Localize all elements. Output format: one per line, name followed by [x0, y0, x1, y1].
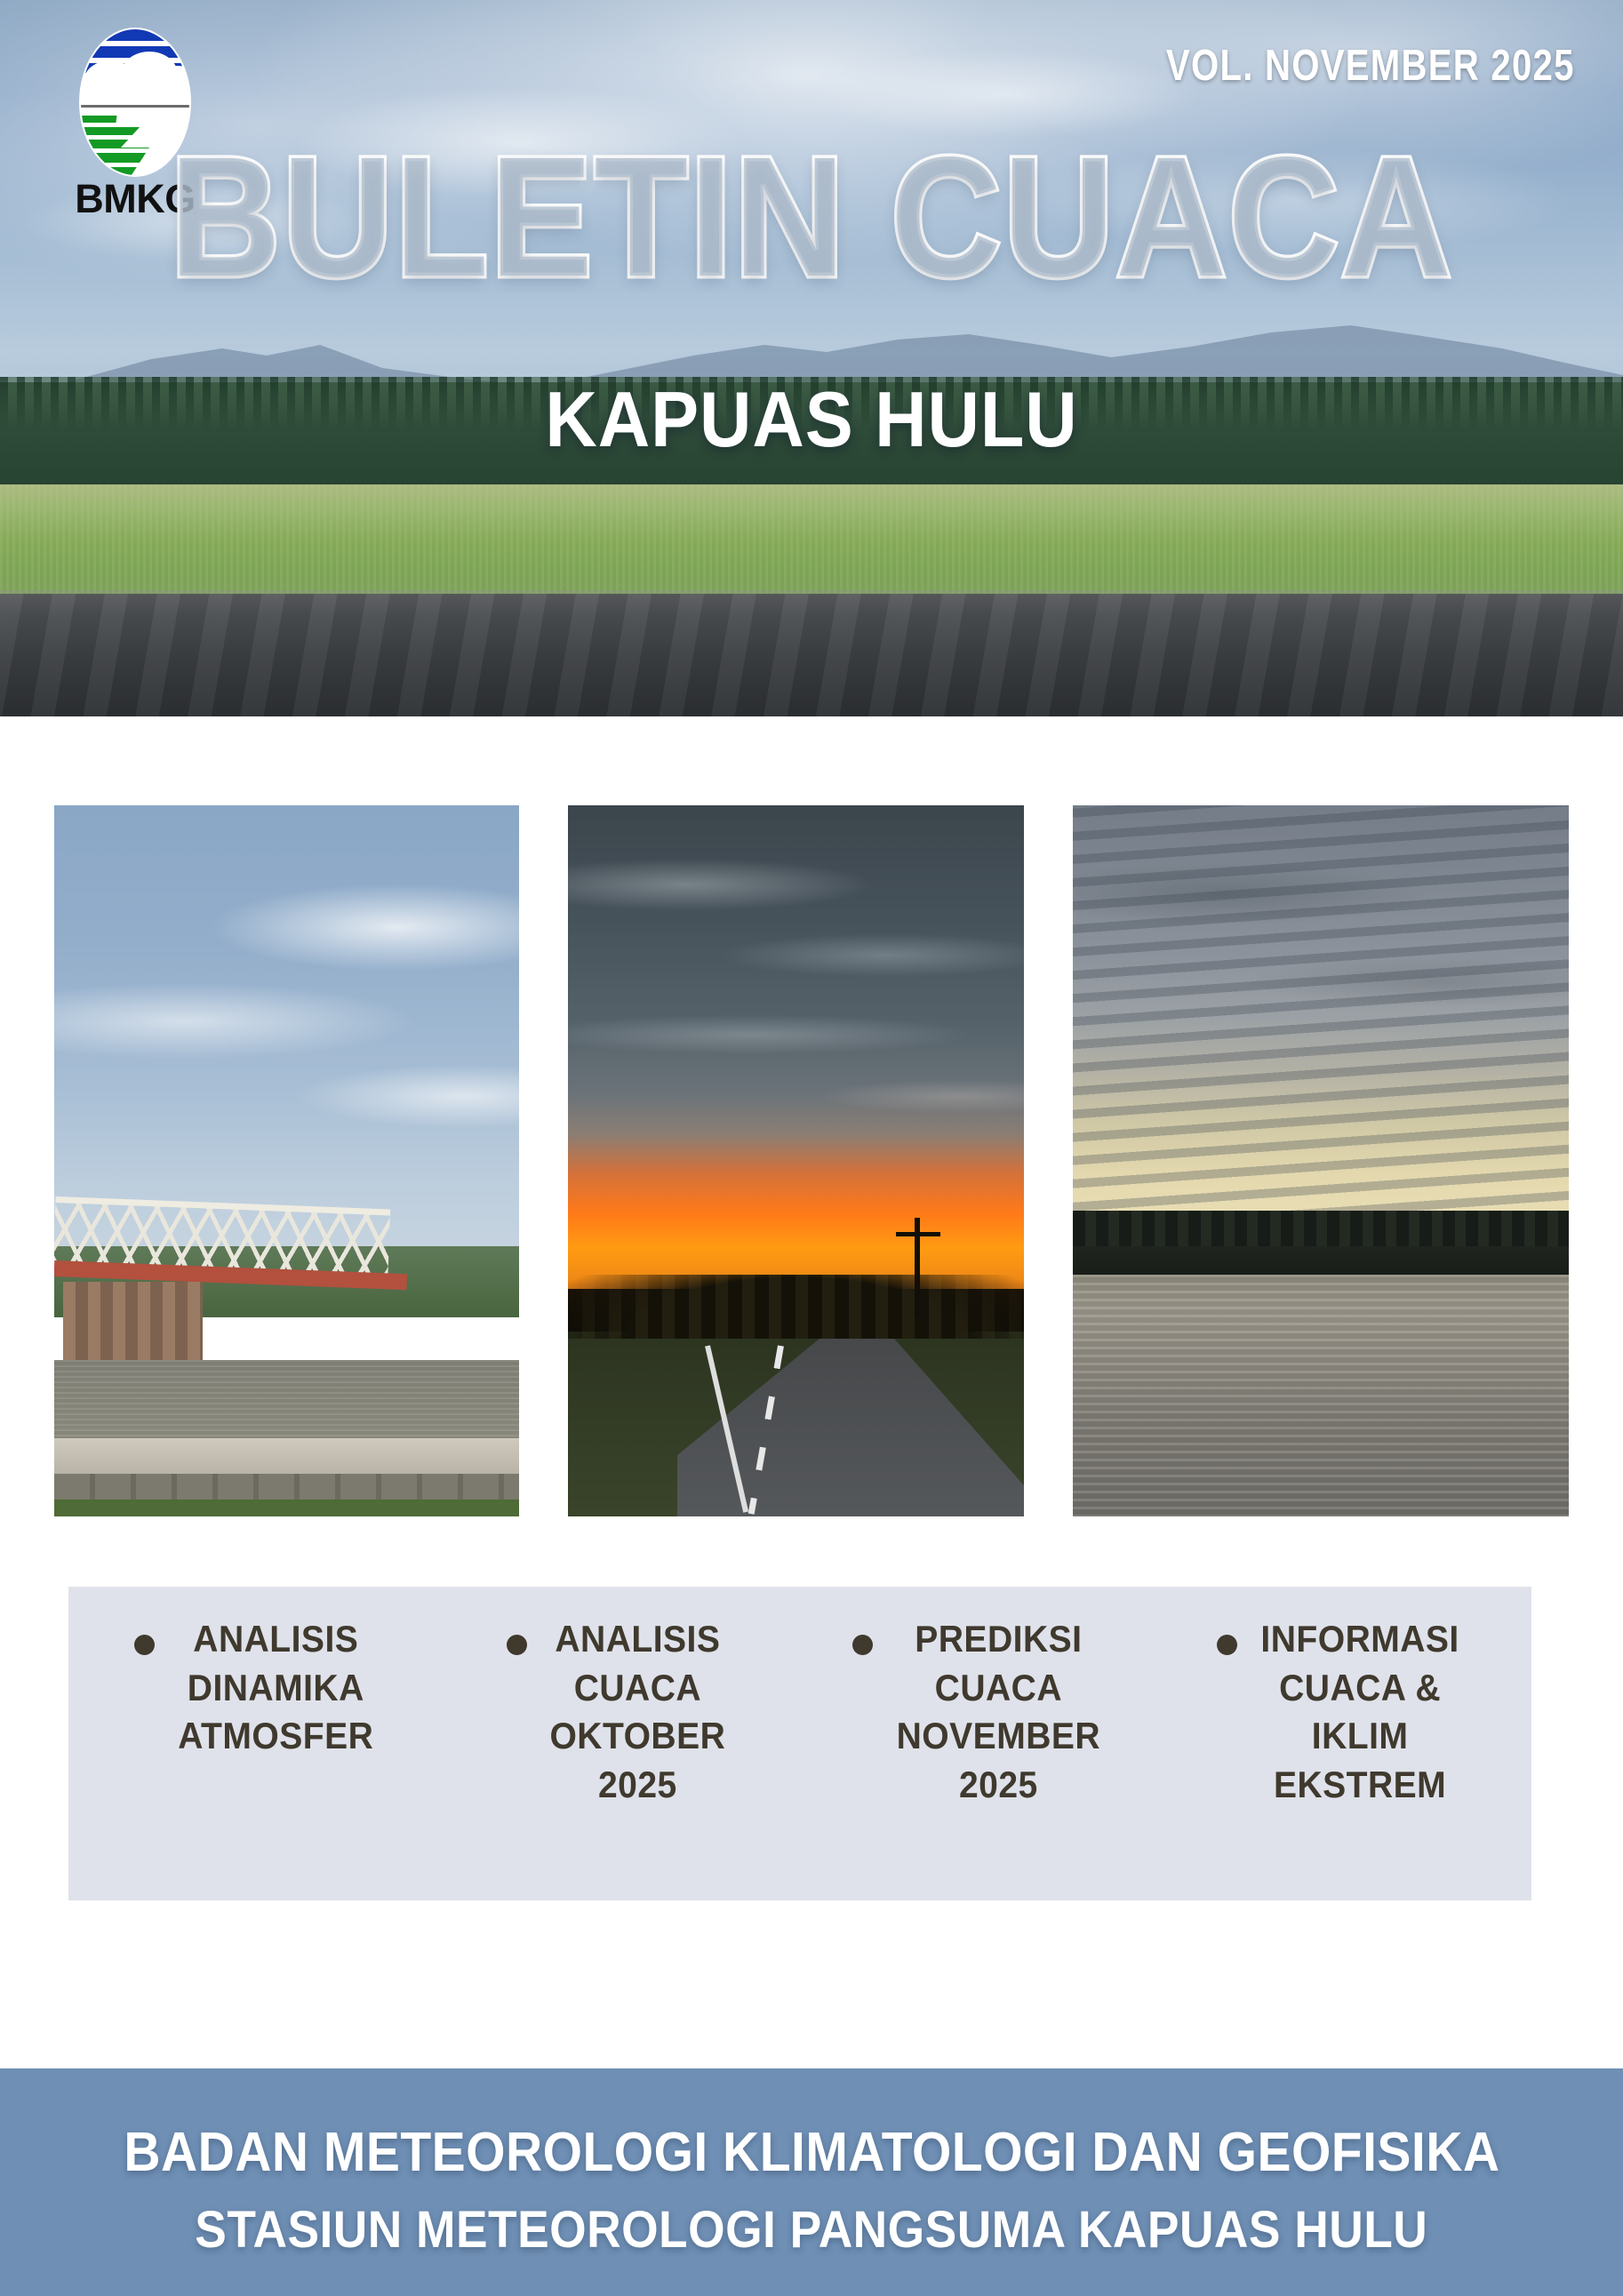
contents-item-2: ANALISIS CUACA OKTOBER 2025 [439, 1615, 801, 1809]
photo-strip [54, 805, 1569, 1516]
contents-item-label: ANALISIS DINAMIKA ATMOSFER [179, 1615, 374, 1761]
hero-banner: BMKG VOL. NOVEMBER 2025 BULETIN CUACA KA… [0, 0, 1623, 716]
contents-item-3: PREDIKSI CUACA NOVEMBER 2025 [800, 1615, 1162, 1809]
page-subtitle: KAPUAS HULU [65, 380, 1558, 459]
bullet-dot-icon [852, 1635, 873, 1655]
contents-panel: ANALISIS DINAMIKA ATMOSFER ANALISIS CUAC… [68, 1587, 1531, 1900]
bullet-dot-icon [1217, 1635, 1237, 1655]
photo2-clouds [568, 805, 1024, 1246]
contents-item-1: ANALISIS DINAMIKA ATMOSFER [77, 1615, 439, 1761]
contents-item-label: INFORMASI CUACA & IKLIM EKSTREM [1261, 1615, 1459, 1809]
contents-item-4: INFORMASI CUACA & IKLIM EKSTREM [1162, 1615, 1523, 1809]
photo1-grass [54, 1500, 519, 1516]
photo-river-dusk [1073, 805, 1569, 1516]
contents-item-label: ANALISIS CUACA OKTOBER 2025 [549, 1615, 725, 1809]
contents-item-label: PREDIKSI CUACA NOVEMBER 2025 [897, 1615, 1100, 1809]
hero-grass-field [0, 484, 1623, 604]
photo3-clouds [1073, 805, 1569, 1246]
footer-agency-name: BADAN METEOROLOGI KLIMATOLOGI DAN GEOFIS… [124, 2121, 1499, 2184]
bullet-dot-icon [134, 1635, 155, 1655]
page-title: BULETIN CUACA [81, 132, 1541, 302]
photo3-river [1073, 1275, 1569, 1516]
photo2-utility-pole [915, 1218, 920, 1317]
photo-bridge-river [54, 805, 519, 1516]
footer-station-name: STASIUN METEOROLOGI PANGSUMA KAPUAS HULU [195, 2200, 1427, 2260]
volume-label: VOL. NOVEMBER 2025 [1166, 41, 1575, 91]
bullet-dot-icon [507, 1635, 527, 1655]
photo1-wall [54, 1474, 519, 1502]
photo-sunset-road [568, 805, 1024, 1516]
hero-runway [0, 594, 1623, 716]
footer-bar: BADAN METEOROLOGI KLIMATOLOGI DAN GEOFIS… [0, 2068, 1623, 2296]
photo2-treeline [568, 1275, 1024, 1339]
